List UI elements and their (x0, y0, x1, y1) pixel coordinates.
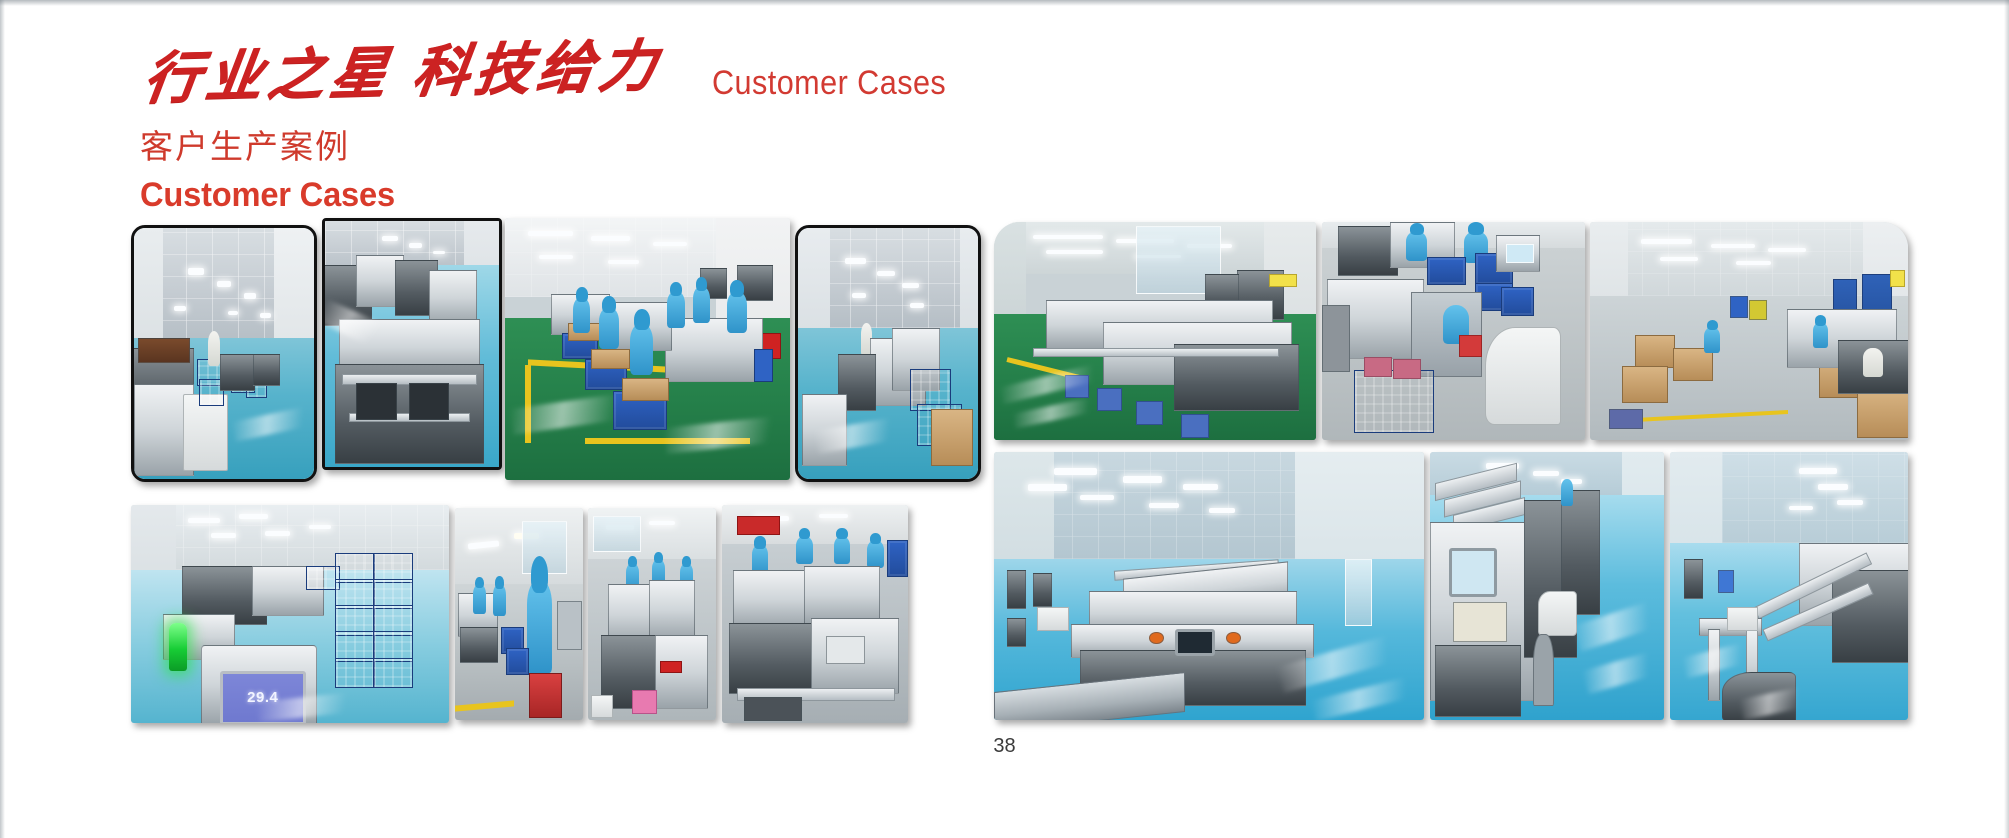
photo-l1-4[interactable] (795, 225, 981, 482)
title-row: 行业之星 科技给力 Customer Cases (140, 52, 1340, 114)
slide-header: 行业之星 科技给力 Customer Cases 客户生产案例 Customer… (140, 52, 1340, 213)
section-subtitle-en: Customer Cases (140, 178, 1292, 214)
page-edge-top (0, 0, 2009, 6)
slide-canvas: 行业之星 科技给力 Customer Cases 客户生产案例 Customer… (0, 0, 2009, 838)
photo-l2-4[interactable] (722, 505, 908, 723)
photo-l1-3[interactable] (505, 218, 790, 480)
photo-l2-2[interactable] (455, 508, 583, 720)
photo-r2-2[interactable] (1430, 452, 1664, 720)
photo-l1-1[interactable] (131, 225, 317, 482)
photo-r2-3[interactable] (1670, 452, 1908, 720)
photo-r1-1[interactable] (994, 222, 1316, 440)
page-edge-left (0, 0, 5, 838)
photo-r1-3[interactable] (1590, 222, 1908, 440)
calligraphy-title-cn: 行业之星 科技给力 (140, 39, 665, 108)
signal-tower-light (169, 623, 186, 671)
photo-l2-3[interactable] (588, 508, 716, 720)
page-number: 38 (0, 735, 2009, 758)
photo-l2-1[interactable]: 29.4 (131, 505, 449, 723)
calligraphy-title-en: Customer Cases (712, 64, 946, 103)
section-subtitle-cn: 客户生产案例 (140, 130, 1340, 165)
photo-r1-2[interactable] (1322, 222, 1585, 440)
page-edge-right (2004, 0, 2009, 838)
photo-r2-1[interactable] (994, 452, 1424, 720)
photo-l1-2[interactable] (322, 218, 502, 470)
